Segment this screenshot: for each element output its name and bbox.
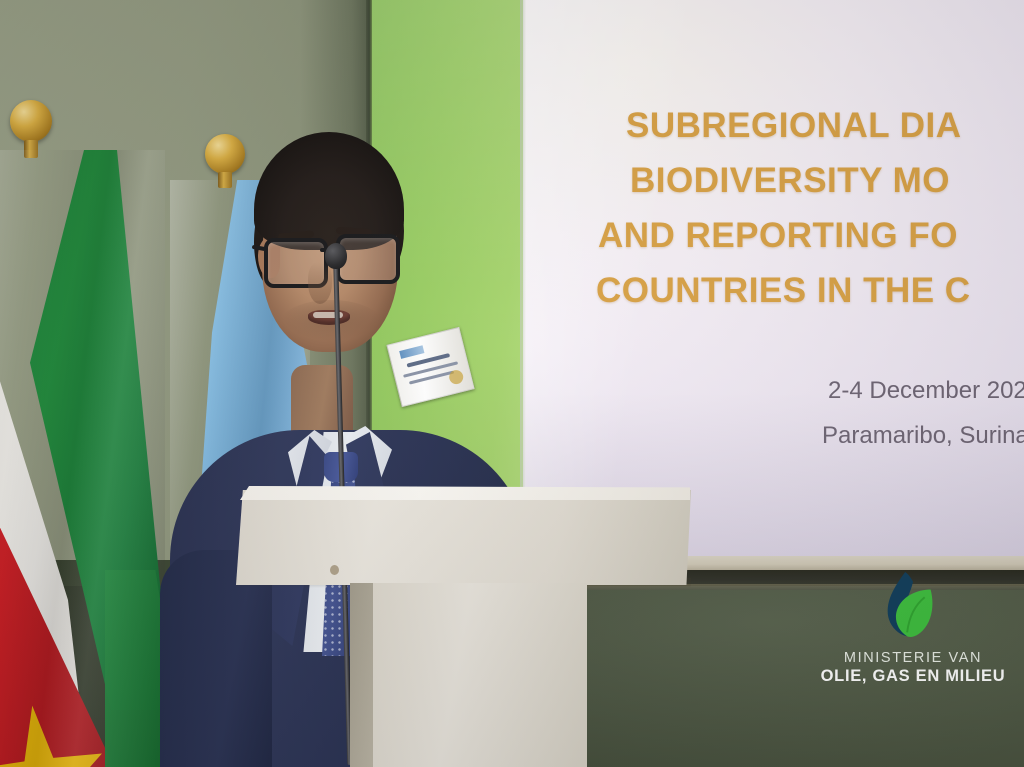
ministry-logo-line-1: MINISTERIE VAN bbox=[818, 650, 1008, 666]
ministry-logo-line-2: OLIE, GAS EN MILIEU bbox=[818, 667, 1008, 686]
name-badge-logo bbox=[399, 345, 424, 359]
slide-title-line-4: COUNTRIES IN THE C bbox=[596, 263, 1024, 318]
podium-scuff-mark bbox=[330, 565, 339, 575]
podium-column bbox=[373, 583, 587, 767]
podium-top-surface bbox=[240, 486, 690, 500]
slide-location-line: Paramaribo, Surinam bbox=[822, 413, 1024, 458]
microphone-head-icon bbox=[325, 243, 347, 269]
conference-photo-scene: SUBREGIONAL DIA BIODIVERSITY MO AND REPO… bbox=[0, 0, 1024, 767]
podium-front-panel bbox=[236, 490, 691, 585]
podium-column-edge bbox=[350, 583, 374, 767]
suriname-flag bbox=[0, 150, 165, 767]
speaker-nose bbox=[308, 262, 332, 304]
flame-leaf-icon bbox=[818, 570, 1008, 648]
flagpole-finial-left bbox=[10, 100, 52, 142]
slide-title-line-1: SUBREGIONAL DIA bbox=[626, 98, 1024, 153]
slide-title-line-3: AND REPORTING FO bbox=[598, 208, 1024, 263]
slide-subtitle: 2-4 December 2025 Paramaribo, Surinam bbox=[540, 368, 1024, 458]
slide-date-line: 2-4 December 2025 bbox=[828, 368, 1024, 413]
name-badge bbox=[386, 327, 474, 407]
slide-title: SUBREGIONAL DIA BIODIVERSITY MO AND REPO… bbox=[540, 98, 1024, 318]
slide-title-line-2: BIODIVERSITY MO bbox=[630, 153, 1024, 208]
speaker-chin-shadow bbox=[276, 300, 386, 356]
name-badge-seal bbox=[448, 369, 465, 386]
suriname-flag-folds bbox=[0, 150, 165, 767]
ministry-logo: MINISTERIE VAN OLIE, GAS EN MILIEU bbox=[818, 570, 1008, 695]
